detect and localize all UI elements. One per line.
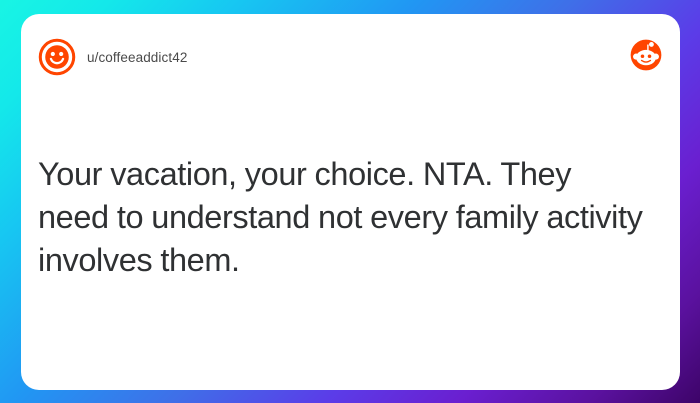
reddit-comment-card: u/coffeeaddict42 Your vacation, your cho… [21,14,680,390]
card-header: u/coffeeaddict42 [21,14,680,104]
user-identity-block[interactable]: u/coffeeaddict42 [38,38,187,76]
username-label: u/coffeeaddict42 [87,50,187,65]
screenshot-root: u/coffeeaddict42 Your vacation, your cho… [0,0,700,403]
post-body-text: Your vacation, your choice. NTA. They ne… [38,153,646,282]
reddit-snoo-icon[interactable] [630,39,662,71]
smiley-face-avatar-icon[interactable] [38,38,76,76]
